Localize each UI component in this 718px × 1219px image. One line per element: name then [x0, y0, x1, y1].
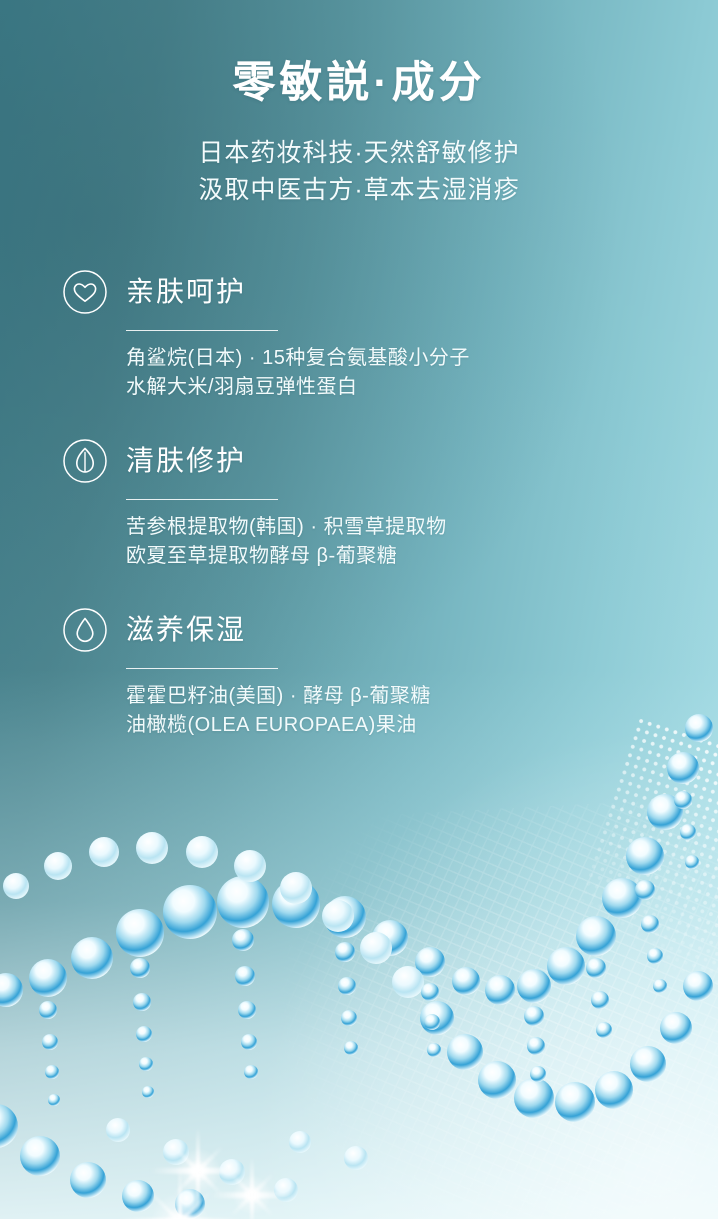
feature-title: 清肤修护: [126, 447, 246, 475]
poster-header: 零敏説·成分 日本药妆科技·天然舒敏修护 汲取中医古方·草本去湿消疹: [0, 0, 718, 209]
page-title: 零敏説·成分: [0, 58, 718, 109]
feature-divider: [126, 668, 278, 669]
ingredient-poster: 零敏説·成分 日本药妆科技·天然舒敏修护 汲取中医古方·草本去湿消疹 亲肤呵护: [0, 0, 718, 1219]
feature-title: 亲肤呵护: [126, 278, 246, 306]
feature-desc-line-1: 苦参根提取物(韩国) · 积雪草提取物: [126, 513, 718, 542]
feature-desc-line-2: 欧夏至草提取物酵母 β-葡聚糖: [126, 542, 718, 571]
feature-desc-line-2: 油橄榄(OLEA EUROPAEA)果油: [126, 711, 718, 740]
feature-body: 霍霍巴籽油(美国) · 酵母 β-葡聚糖 油橄榄(OLEA EUROPAEA)果…: [126, 668, 718, 740]
feature-body: 苦参根提取物(韩国) · 积雪草提取物 欧夏至草提取物酵母 β-葡聚糖: [126, 499, 718, 571]
feature-body: 角鲨烷(日本) · 15种复合氨基酸小分子 水解大米/羽扇豆弹性蛋白: [126, 330, 718, 402]
feature-divider: [126, 499, 278, 500]
feature-desc-line-1: 霍霍巴籽油(美国) · 酵母 β-葡聚糖: [126, 682, 718, 711]
feature-description: 苦参根提取物(韩国) · 积雪草提取物 欧夏至草提取物酵母 β-葡聚糖: [126, 513, 718, 571]
feature-divider: [126, 330, 278, 331]
poster-content: 零敏説·成分 日本药妆科技·天然舒敏修护 汲取中医古方·草本去湿消疹 亲肤呵护: [0, 0, 718, 1219]
feature-desc-line-2: 水解大米/羽扇豆弹性蛋白: [126, 373, 718, 402]
feature-description: 霍霍巴籽油(美国) · 酵母 β-葡聚糖 油橄榄(OLEA EUROPAEA)果…: [126, 682, 718, 740]
feature-desc-line-1: 角鲨烷(日本) · 15种复合氨基酸小分子: [126, 344, 718, 373]
feature-title: 滋养保湿: [126, 616, 246, 644]
feature-item-skin-care: 亲肤呵护 角鲨烷(日本) · 15种复合氨基酸小分子 水解大米/羽扇豆弹性蛋白: [62, 269, 718, 402]
feature-description: 角鲨烷(日本) · 15种复合氨基酸小分子 水解大米/羽扇豆弹性蛋白: [126, 344, 718, 402]
feature-item-moisturizing: 滋养保湿 霍霍巴籽油(美国) · 酵母 β-葡聚糖 油橄榄(OLEA EUROP…: [62, 607, 718, 740]
feature-header: 滋养保湿: [62, 607, 718, 653]
subtitle-line-1: 日本药妆科技·天然舒敏修护: [0, 135, 718, 172]
leaf-in-circle-icon: [62, 438, 108, 484]
heart-in-circle-icon: [62, 269, 108, 315]
water-drop-in-circle-icon: [62, 607, 108, 653]
feature-header: 亲肤呵护: [62, 269, 718, 315]
feature-item-skin-repair: 清肤修护 苦参根提取物(韩国) · 积雪草提取物 欧夏至草提取物酵母 β-葡聚糖: [62, 438, 718, 571]
feature-list: 亲肤呵护 角鲨烷(日本) · 15种复合氨基酸小分子 水解大米/羽扇豆弹性蛋白: [0, 269, 718, 740]
subtitle: 日本药妆科技·天然舒敏修护 汲取中医古方·草本去湿消疹: [0, 135, 718, 209]
feature-header: 清肤修护: [62, 438, 718, 484]
subtitle-line-2: 汲取中医古方·草本去湿消疹: [0, 172, 718, 209]
